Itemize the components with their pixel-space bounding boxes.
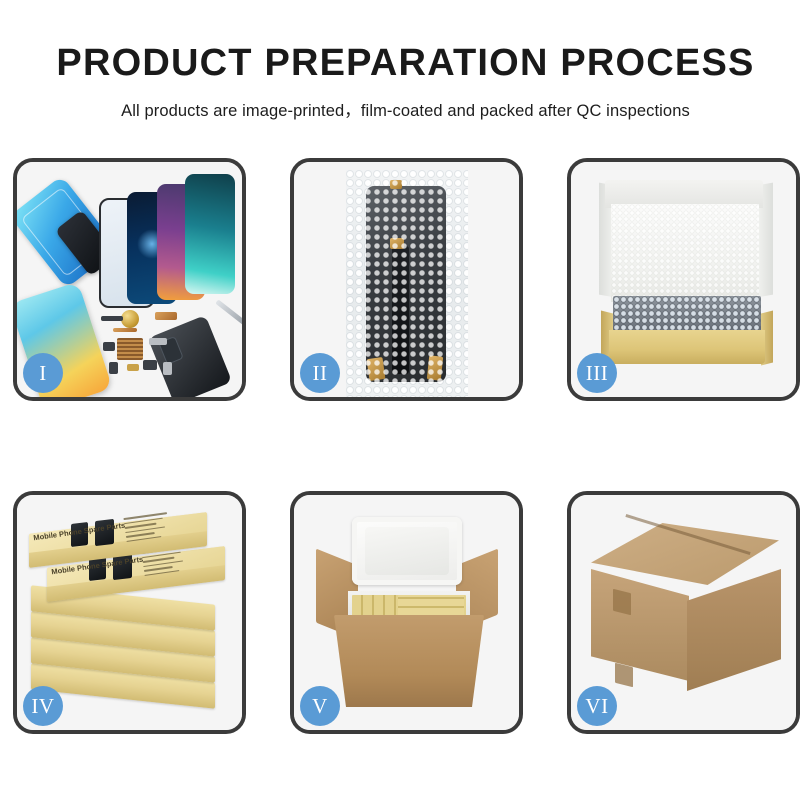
shipping-carton-side xyxy=(687,569,781,691)
spare-part-button xyxy=(109,362,118,374)
foam-liner xyxy=(611,204,759,302)
foam-lid xyxy=(352,517,462,585)
step-badge-3: III xyxy=(577,353,617,393)
spare-part-camera xyxy=(103,342,115,351)
process-step-grid: I II xyxy=(13,158,798,734)
spare-part-sensor xyxy=(143,360,157,370)
connector-pin-grid xyxy=(117,338,143,360)
shipping-carton-tape-lower xyxy=(615,663,633,687)
bubble-wrap-contents xyxy=(613,296,761,332)
box-front-panel xyxy=(609,330,765,364)
step-badge-4: IV xyxy=(23,686,63,726)
shipping-carton-front xyxy=(591,569,689,681)
page-title: PRODUCT PREPARATION PROCESS xyxy=(0,0,811,84)
step-badge-2: II xyxy=(300,353,340,393)
gold-connector-mid xyxy=(390,238,404,249)
spare-part-battery-tab xyxy=(163,362,172,375)
flex-cable-strip xyxy=(392,246,409,374)
header: PRODUCT PREPARATION PROCESS All products… xyxy=(0,0,811,121)
phone-teal-gradient xyxy=(185,174,235,294)
spare-part-chip xyxy=(101,316,123,321)
phone-rear-housing xyxy=(148,315,232,397)
spare-part-antenna xyxy=(113,328,137,332)
spare-part-flex-cable xyxy=(155,312,177,320)
gold-connector-left xyxy=(367,357,386,381)
spare-part-contact xyxy=(127,364,139,371)
shipping-carton-tape-upper xyxy=(613,589,631,615)
process-step-4[interactable]: Mobile Phone Spare Parts Mobile Phone Sp… xyxy=(13,491,246,734)
process-step-1[interactable]: I xyxy=(13,158,246,401)
gold-connector-top xyxy=(390,180,402,189)
spare-part-speaker xyxy=(149,338,167,345)
gold-connector-right xyxy=(427,355,443,380)
step-badge-1: I xyxy=(23,353,63,393)
vibration-motor-part xyxy=(121,310,139,328)
step-badge-5: V xyxy=(300,686,340,726)
process-step-2[interactable]: II xyxy=(290,158,523,401)
process-step-3[interactable]: III xyxy=(567,158,800,401)
step-badge-6: VI xyxy=(577,686,617,726)
carton-body xyxy=(334,615,484,707)
repair-tweezers xyxy=(215,299,242,325)
product-preparation-infographic: PRODUCT PREPARATION PROCESS All products… xyxy=(0,0,811,811)
page-subtitle: All products are image-printed，film-coat… xyxy=(0,84,811,121)
process-step-5[interactable]: V xyxy=(290,491,523,734)
process-step-6[interactable]: VI xyxy=(567,491,800,734)
